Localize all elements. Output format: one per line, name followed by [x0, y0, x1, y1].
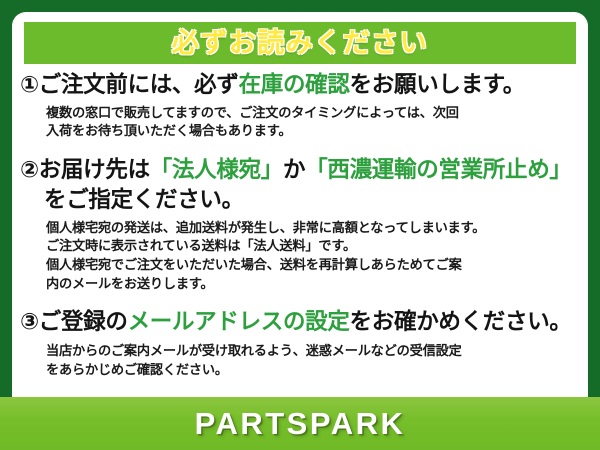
item-2-subline-1: 個人様宅宛の発送は、追加送料が発生し、非常に高額となってしまいます。: [46, 219, 578, 238]
item-1-heading: ①ご注文前には、必ず在庫の確認をお願いします。: [20, 70, 578, 100]
item-3-marker: ③: [20, 309, 39, 334]
item-2-heading-line2: をご指定ください。: [20, 185, 578, 215]
item-2-subline-3: 個人様宅宛でご注文をいただいた場合、送料を再計算しあらためてご案: [46, 256, 578, 275]
item-1-subline-2: 入荷をお待ち頂いただく場合もあります。: [46, 122, 578, 141]
title-banner: 必ずお読みください: [24, 22, 576, 64]
notice-body: ①ご注文前には、必ず在庫の確認をお願いします。 複数の窓口で販売してますので、ご…: [12, 70, 588, 382]
notice-item-2: ②お届け先は「法人様宛」か「西濃運輸の営業所止め」 をご指定ください。 個人様宅…: [20, 155, 578, 293]
footer-bar: PARTSPARK: [0, 397, 600, 450]
item-2-subline-4: 内のメールをお送りします。: [46, 275, 578, 294]
item-1-heading-part-1: ご注文前には、必ず: [39, 72, 239, 97]
notice-item-1: ①ご注文前には、必ず在庫の確認をお願いします。 複数の窓口で販売してますので、ご…: [20, 70, 578, 141]
item-3-heading-part-1: ご登録の: [39, 309, 128, 334]
item-3-subline-2: をあらかじめご確認ください。: [46, 361, 578, 380]
brand-logo: PARTSPARK: [195, 408, 406, 439]
item-2-subline-2: ご注文時に表示されている送料は「法人送料」です。: [46, 237, 578, 256]
item-1-subtext: 複数の窓口で販売してますので、ご注文のタイミングによっては、次回 入荷をお待ち頂…: [20, 104, 578, 141]
item-3-heading-part-3: をお確かめください。: [350, 309, 572, 334]
item-2-heading-part-3: か: [283, 157, 305, 182]
item-2-heading-highlight-1: 「法人様宛」: [150, 157, 283, 182]
item-3-subtext: 当店からのご案内メールが受け取れるよう、迷惑メールなどの受信設定 をあらかじめご…: [20, 342, 578, 379]
item-1-heading-highlight: 在庫の確認: [239, 72, 350, 97]
item-2-heading-part-1: お届け先は: [39, 157, 150, 182]
item-1-marker: ①: [20, 72, 39, 97]
item-3-heading-highlight: メールアドレスの設定: [128, 309, 350, 334]
item-1-heading-part-3: をお願いします。: [350, 72, 525, 97]
item-3-heading: ③ご登録のメールアドレスの設定をお確かめください。: [20, 307, 578, 337]
item-2-subtext: 個人様宅宛の発送は、追加送料が発生し、非常に高額となってしまいます。 ご注文時に…: [20, 219, 578, 294]
notice-panel: 必ずお読みください ①ご注文前には、必ず在庫の確認をお願いします。 複数の窓口で…: [12, 12, 588, 438]
item-3-subline-1: 当店からのご案内メールが受け取れるよう、迷惑メールなどの受信設定: [46, 342, 578, 361]
notice-item-3: ③ご登録のメールアドレスの設定をお確かめください。 当店からのご案内メールが受け…: [20, 307, 578, 379]
notice-card: 必ずお読みください ①ご注文前には、必ず在庫の確認をお願いします。 複数の窓口で…: [0, 0, 600, 450]
item-2-heading: ②お届け先は「法人様宛」か「西濃運輸の営業所止め」: [20, 155, 578, 185]
item-1-subline-1: 複数の窓口で販売してますので、ご注文のタイミングによっては、次回: [46, 104, 578, 123]
item-2-marker: ②: [20, 157, 39, 182]
page-title: 必ずお読みください: [172, 30, 429, 57]
item-2-heading-highlight-2: 「西濃運輸の営業所止め」: [305, 157, 571, 182]
